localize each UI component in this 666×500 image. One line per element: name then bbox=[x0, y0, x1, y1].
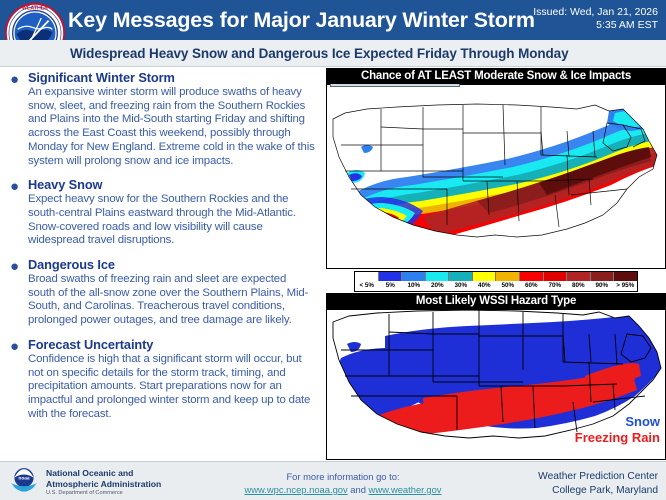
svg-text:noaa: noaa bbox=[18, 476, 30, 481]
legend-swatch bbox=[379, 272, 403, 281]
legend-label: < 5% bbox=[355, 281, 379, 291]
legend-label: 5% bbox=[379, 281, 403, 291]
more-info-label: For more information go to: bbox=[228, 470, 458, 483]
legend-label-row: < 5% 5% 10% 20% 30% 40% 50% 60% 70% 80% … bbox=[355, 281, 637, 291]
issued-time: 5:35 AM EST bbox=[498, 19, 658, 32]
bullet-dot-icon: ● bbox=[10, 70, 28, 168]
key-messages-infographic: WEATHER NATIONAL Key Messages for Major … bbox=[0, 0, 666, 500]
agency-department: U.S. Department of Commerce bbox=[46, 489, 161, 498]
hazard-key-snow: Snow bbox=[575, 414, 660, 430]
list-item: ● Heavy Snow Expect heavy snow for the S… bbox=[10, 177, 316, 248]
subtitle: Widespread Heavy Snow and Dangerous Ice … bbox=[70, 44, 650, 63]
list-item: ● Significant Winter Storm An expansive … bbox=[10, 70, 316, 168]
legend-label: > 95% bbox=[614, 281, 638, 291]
legend-label: 70% bbox=[543, 281, 567, 291]
bullet-dot-icon: ● bbox=[10, 177, 28, 248]
links-conjunction: and bbox=[348, 484, 369, 495]
legend-swatch bbox=[614, 272, 637, 281]
weather-gov-link[interactable]: www.weather.gov bbox=[369, 484, 442, 495]
bullet-heading: Significant Winter Storm bbox=[28, 70, 316, 86]
noaa-logo-icon: noaa bbox=[8, 467, 40, 497]
legend-swatch bbox=[355, 272, 379, 281]
legend-swatch bbox=[496, 272, 520, 281]
bullet-heading: Dangerous Ice bbox=[28, 257, 316, 273]
legend-swatch-row bbox=[355, 272, 637, 281]
legend-label: 10% bbox=[402, 281, 426, 291]
office-location: College Park, Maryland bbox=[538, 484, 658, 498]
probability-map-panel: Chance of AT LEAST Moderate Snow & Ice I… bbox=[326, 68, 666, 293]
bullet-dot-icon: ● bbox=[10, 257, 28, 328]
bullet-heading: Forecast Uncertainty bbox=[28, 337, 316, 353]
legend-label: 40% bbox=[473, 281, 497, 291]
bullet-text: Broad swaths of freezing rain and sleet … bbox=[28, 273, 316, 328]
noaa-agency-name: National Oceanic and Atmospheric Adminis… bbox=[46, 468, 161, 498]
probability-map-title: Chance of AT LEAST Moderate Snow & Ice I… bbox=[326, 68, 666, 84]
footer-links: www.wpc.ncep.noaa.gov and www.weather.go… bbox=[228, 483, 458, 496]
legend-swatch bbox=[402, 272, 426, 281]
list-item: ● Forecast Uncertainty Confidence is hig… bbox=[10, 337, 316, 422]
issued-timestamp: Issued: Wed, Jan 21, 2026 5:35 AM EST bbox=[498, 6, 658, 32]
probability-map-graphic bbox=[327, 85, 665, 268]
footer-bar: noaa National Oceanic and Atmospheric Ad… bbox=[0, 461, 666, 500]
list-item: ● Dangerous Ice Broad swaths of freezing… bbox=[10, 257, 316, 328]
key-messages-list: ● Significant Winter Storm An expansive … bbox=[0, 68, 322, 460]
agency-line-1: National Oceanic and bbox=[46, 468, 161, 479]
legend-swatch bbox=[473, 272, 497, 281]
probability-legend: < 5% 5% 10% 20% 30% 40% 50% 60% 70% 80% … bbox=[354, 271, 638, 292]
legend-swatch bbox=[520, 272, 544, 281]
legend-label: 20% bbox=[426, 281, 450, 291]
issuing-office: Weather Prediction Center College Park, … bbox=[538, 470, 658, 497]
probability-map-frame[interactable] bbox=[326, 84, 666, 269]
legend-label: 30% bbox=[449, 281, 473, 291]
page-title: Key Messages for Major January Winter St… bbox=[68, 4, 488, 36]
legend-label: 90% bbox=[590, 281, 614, 291]
bullet-text: Expect heavy snow for the Southern Rocki… bbox=[28, 193, 316, 248]
legend-swatch bbox=[426, 272, 450, 281]
agency-line-2: Atmospheric Administration bbox=[46, 479, 161, 490]
bullet-text: An expansive winter storm will produce s… bbox=[28, 86, 316, 168]
legend-swatch bbox=[449, 272, 473, 281]
legend-label: 60% bbox=[520, 281, 544, 291]
bullet-dot-icon: ● bbox=[10, 337, 28, 422]
issued-date: Issued: Wed, Jan 21, 2026 bbox=[498, 6, 658, 19]
bullet-heading: Heavy Snow bbox=[28, 177, 316, 193]
wpc-link[interactable]: www.wpc.ncep.noaa.gov bbox=[245, 484, 348, 495]
legend-swatch bbox=[591, 272, 615, 281]
hazard-key-freezing-rain: Freezing Rain bbox=[575, 430, 660, 446]
legend-label: 50% bbox=[496, 281, 520, 291]
legend-swatch bbox=[567, 272, 591, 281]
office-name: Weather Prediction Center bbox=[538, 470, 658, 484]
more-information: For more information go to: www.wpc.ncep… bbox=[228, 470, 458, 496]
hazard-type-key: Snow Freezing Rain bbox=[575, 414, 660, 446]
bullet-text: Confidence is high that a significant st… bbox=[28, 353, 316, 422]
wssi-hazard-map-panel: Most Likely WSSI Hazard Type bbox=[326, 293, 666, 460]
legend-swatch bbox=[544, 272, 568, 281]
legend-label: 80% bbox=[567, 281, 591, 291]
wssi-hazard-map-title: Most Likely WSSI Hazard Type bbox=[326, 293, 666, 309]
